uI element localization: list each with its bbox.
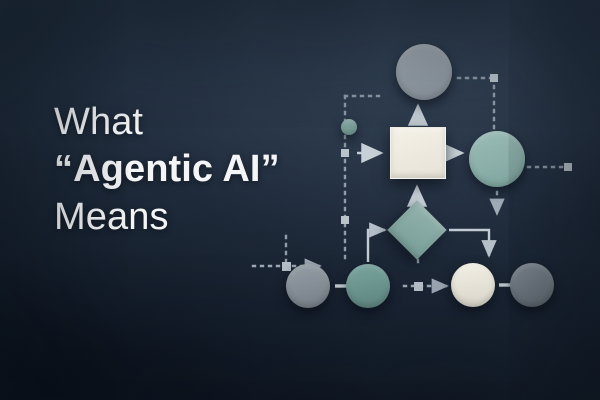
small-teal-dot bbox=[341, 119, 357, 135]
bottom-gray-circle bbox=[286, 264, 330, 308]
title-line-1: What bbox=[54, 99, 314, 145]
elbow-teal-to-diamond bbox=[368, 230, 385, 262]
bottom-teal-circle bbox=[346, 264, 390, 308]
junction-node-left bbox=[341, 149, 349, 157]
title-line-3: Means bbox=[54, 194, 314, 241]
junction-node-left-lower bbox=[341, 216, 349, 224]
bottom-dark-circle bbox=[510, 263, 554, 307]
title-line-2: “Agentic AI” bbox=[54, 145, 314, 194]
junction-node-right-end bbox=[564, 163, 572, 171]
top-circle bbox=[396, 44, 452, 100]
bottom-cream-circle bbox=[451, 263, 495, 307]
title-card: What “Agentic AI” Means bbox=[0, 0, 600, 400]
elbow-diamond-to-cream bbox=[449, 230, 489, 256]
page-title: What “Agentic AI” Means bbox=[54, 99, 314, 241]
right-teal-circle bbox=[469, 131, 525, 187]
junction-node-bottom-left bbox=[282, 262, 291, 271]
center-square bbox=[390, 127, 446, 179]
junction-node-bottom-mid bbox=[414, 282, 423, 291]
junction-node-top-right bbox=[490, 74, 498, 82]
junction-nodes bbox=[282, 74, 572, 291]
